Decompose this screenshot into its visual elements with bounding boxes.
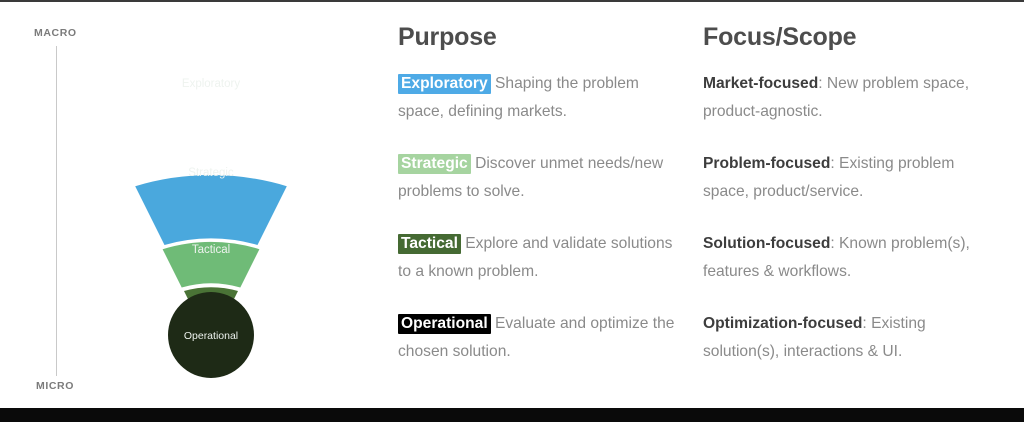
- focus-term-solution: Solution-focused: [703, 235, 830, 252]
- column-purpose: Purpose Exploratory Shaping the problem …: [398, 24, 686, 366]
- focus-term-market: Market-focused: [703, 75, 818, 92]
- focus-entry-market: Market-focused: New problem space, produ…: [703, 70, 1003, 126]
- bottom-border: [0, 408, 1024, 422]
- axis-line: [56, 46, 57, 376]
- purpose-chip-exploratory: Exploratory: [398, 74, 491, 94]
- purpose-entry-strategic: Strategic Discover unmet needs/new probl…: [398, 150, 686, 206]
- axis-label-micro: MICRO: [36, 380, 74, 392]
- focus-entry-optimization: Optimization-focused: Existing solution(…: [703, 310, 1003, 366]
- focus-entry-problem: Problem-focused: Existing problem space,…: [703, 150, 1003, 206]
- funnel-label-operational: Operational: [184, 330, 238, 342]
- maturity-funnel-diagram: Exploratory Strategic Tactical Operation…: [86, 36, 342, 384]
- axis-label-macro: MACRO: [34, 27, 77, 39]
- column-focus-scope: Focus/Scope Market-focused: New problem …: [703, 24, 1003, 366]
- slide-canvas: MACRO MICRO Exploratory Strategic Tactic…: [0, 2, 1024, 408]
- purpose-chip-strategic: Strategic: [398, 154, 471, 174]
- purpose-chip-tactical: Tactical: [398, 234, 461, 254]
- focus-entry-solution: Solution-focused: Known problem(s), feat…: [703, 230, 1003, 286]
- funnel-label-exploratory: Exploratory: [182, 78, 240, 90]
- focus-term-problem: Problem-focused: [703, 155, 830, 172]
- funnel-label-strategic: Strategic: [188, 167, 234, 179]
- purpose-chip-operational: Operational: [398, 314, 491, 334]
- column-heading-focus-scope: Focus/Scope: [703, 24, 1003, 52]
- purpose-entry-tactical: Tactical Explore and validate solutions …: [398, 230, 686, 286]
- purpose-entry-operational: Operational Evaluate and optimize the ch…: [398, 310, 686, 366]
- slide-root: MACRO MICRO Exploratory Strategic Tactic…: [0, 0, 1024, 422]
- column-heading-purpose: Purpose: [398, 24, 686, 52]
- funnel-segment-exploratory[interactable]: [135, 175, 287, 245]
- purpose-entry-exploratory: Exploratory Shaping the problem space, d…: [398, 70, 686, 126]
- focus-term-optimization: Optimization-focused: [703, 315, 862, 332]
- funnel-label-tactical: Tactical: [192, 244, 230, 256]
